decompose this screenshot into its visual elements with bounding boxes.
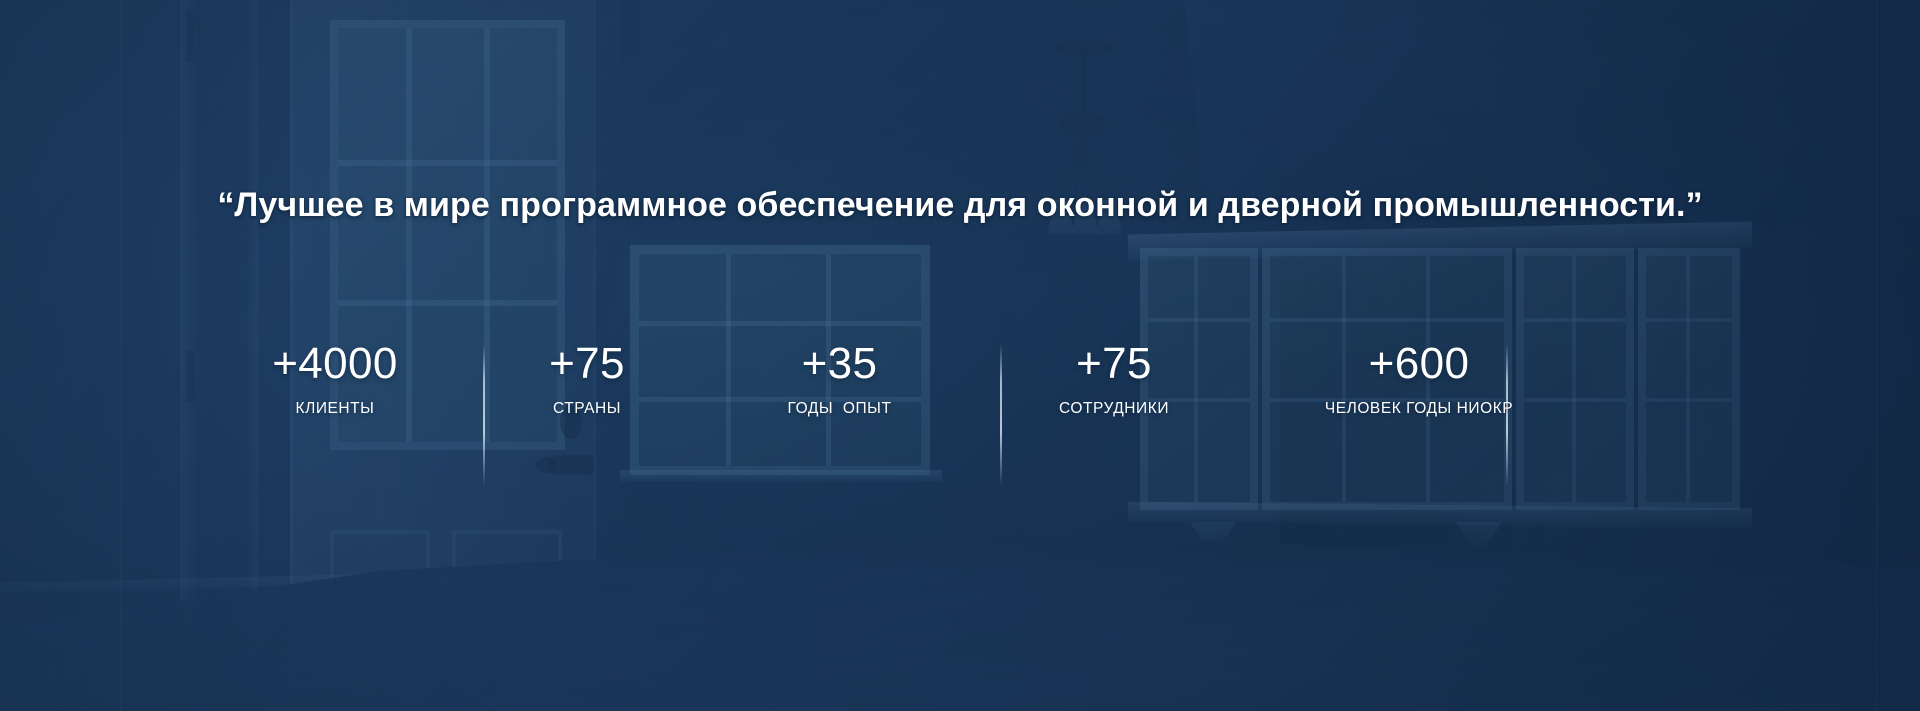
hero-content: “Лучшее в мире программное обеспечение д… bbox=[0, 0, 1920, 711]
stat-item-clients: +4000 КЛИЕНТЫ bbox=[230, 340, 440, 418]
stat-value: +35 bbox=[732, 340, 947, 388]
stats-row: +4000 КЛИЕНТЫ +75 СТРАНЫ +35 ГОДЫ ОПЫТ +… bbox=[230, 340, 1730, 418]
hero-headline: “Лучшее в мире программное обеспечение д… bbox=[0, 186, 1920, 225]
stat-value: +75 bbox=[482, 340, 692, 388]
stat-label: КЛИЕНТЫ bbox=[230, 400, 440, 418]
stat-label: ГОДЫ ОПЫТ bbox=[732, 400, 947, 418]
stat-value: +600 bbox=[1269, 340, 1569, 388]
stat-label: СОТРУДНИКИ bbox=[999, 400, 1229, 418]
stat-label: СТРАНЫ bbox=[482, 400, 692, 418]
hero-banner: “Лучшее в мире программное обеспечение д… bbox=[0, 0, 1920, 711]
stat-value: +75 bbox=[999, 340, 1229, 388]
stat-item-rd-person-years: +600 ЧЕЛОВЕК ГОДЫ НИОКР bbox=[1269, 340, 1569, 418]
stat-item-years-experience: +35 ГОДЫ ОПЫТ bbox=[732, 340, 947, 418]
stat-item-employees: +75 СОТРУДНИКИ bbox=[999, 340, 1229, 418]
stat-item-countries: +75 СТРАНЫ bbox=[482, 340, 692, 418]
stat-value: +4000 bbox=[230, 340, 440, 388]
stat-label: ЧЕЛОВЕК ГОДЫ НИОКР bbox=[1269, 400, 1569, 418]
